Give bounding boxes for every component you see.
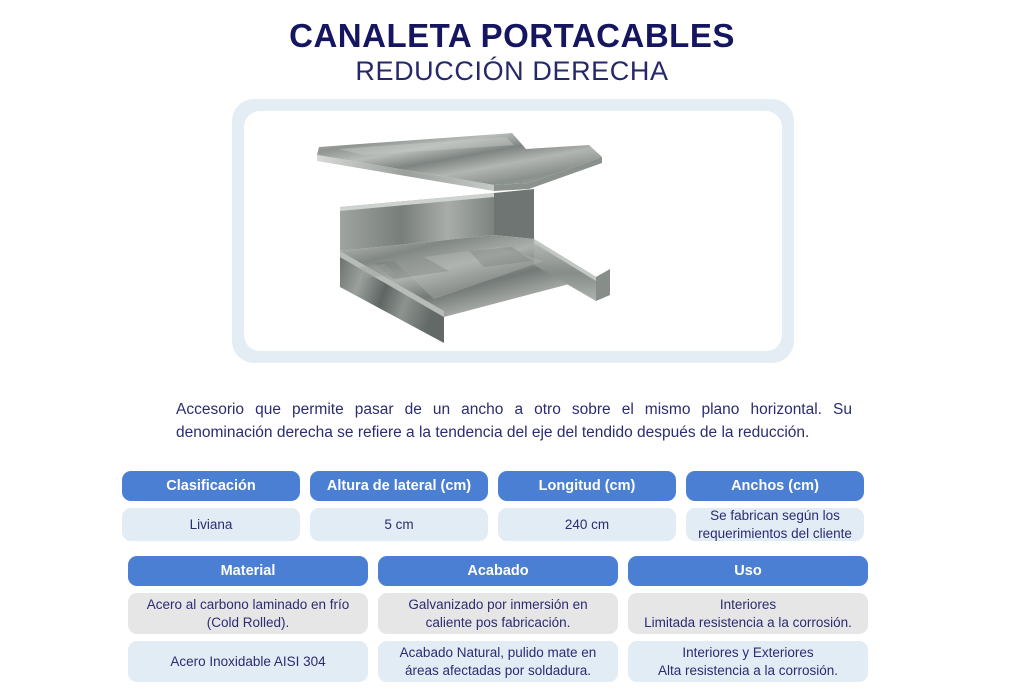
material-column-acabado: Acabado Galvanizado por inmersión en cal… — [378, 556, 618, 682]
spec-column-longitud: Longitud (cm) 240 cm — [498, 471, 676, 541]
material-header-uso: Uso — [628, 556, 868, 586]
product-image-frame — [232, 99, 794, 363]
spec-column-anchos: Anchos (cm) Se fabrican según los requer… — [686, 471, 864, 541]
tray-lid — [317, 133, 602, 191]
spec-value-altura-lateral: 5 cm — [310, 508, 488, 541]
spec-value-clasificacion: Liviana — [122, 508, 300, 541]
uso-cell-interiores-exteriores: Interiores y ExterioresAlta resistencia … — [628, 641, 868, 682]
spec-header-anchos: Anchos (cm) — [686, 471, 864, 501]
material-cell-carbono: Acero al carbono laminado en frío (Cold … — [128, 593, 368, 634]
spec-value-anchos: Se fabrican según los requerimientos del… — [686, 508, 864, 541]
product-description: Accesorio que permite pasar de un ancho … — [176, 398, 852, 445]
acabado-cell-natural: Acabado Natural, pulido mate en áreas af… — [378, 641, 618, 682]
material-header-material: Material — [128, 556, 368, 586]
specifications-table: Clasificación Liviana Altura de lateral … — [122, 471, 864, 541]
uso-cell-interiores: InterioresLimitada resistencia a la corr… — [628, 593, 868, 634]
material-table: Material Acero al carbono laminado en fr… — [128, 556, 868, 682]
material-column-uso: Uso InterioresLimitada resistencia a la … — [628, 556, 868, 682]
spec-header-longitud: Longitud (cm) — [498, 471, 676, 501]
tray-body — [340, 189, 610, 343]
page-title: CANALETA PORTACABLES — [0, 18, 1024, 54]
spec-column-altura-lateral: Altura de lateral (cm) 5 cm — [310, 471, 488, 541]
spec-value-longitud: 240 cm — [498, 508, 676, 541]
material-column-material: Material Acero al carbono laminado en fr… — [128, 556, 368, 682]
spec-header-clasificacion: Clasificación — [122, 471, 300, 501]
spec-column-clasificacion: Clasificación Liviana — [122, 471, 300, 541]
product-illustration-galvanized-cable-tray-reducer — [244, 111, 782, 351]
material-cell-inoxidable: Acero Inoxidable AISI 304 — [128, 641, 368, 682]
spec-header-altura-lateral: Altura de lateral (cm) — [310, 471, 488, 501]
page-subtitle: REDUCCIÓN DERECHA — [0, 56, 1024, 87]
page-header: CANALETA PORTACABLES REDUCCIÓN DERECHA — [0, 0, 1024, 87]
product-image-panel — [244, 111, 782, 351]
acabado-cell-galvanizado: Galvanizado por inmersión en caliente po… — [378, 593, 618, 634]
material-header-acabado: Acabado — [378, 556, 618, 586]
